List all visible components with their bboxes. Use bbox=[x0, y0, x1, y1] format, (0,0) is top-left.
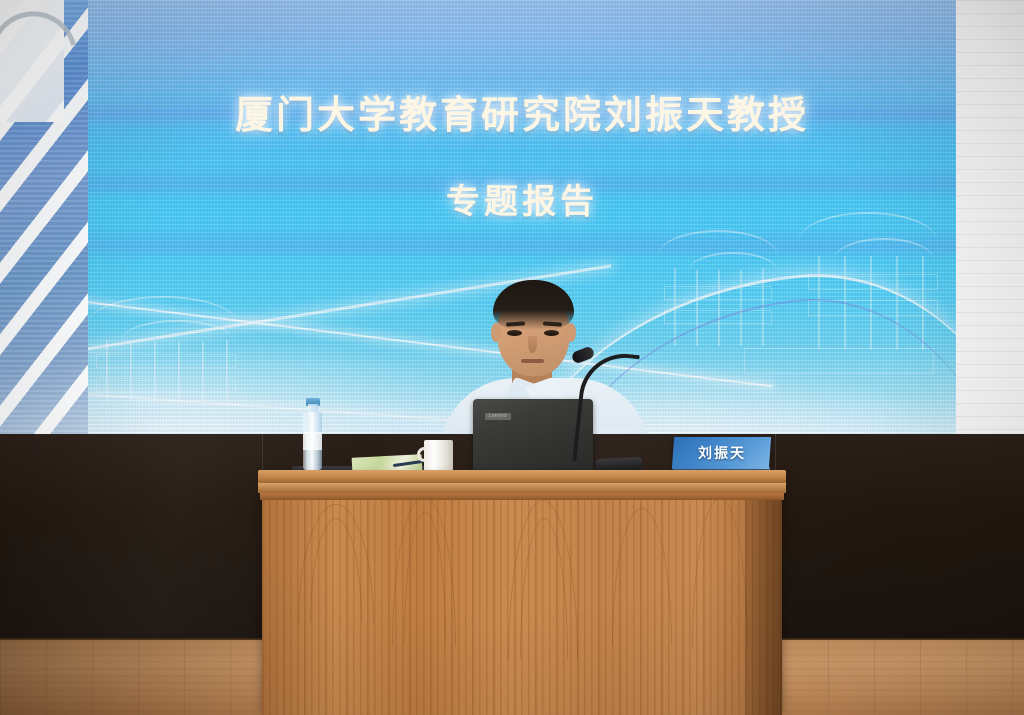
ceramic-mug bbox=[424, 440, 453, 473]
speaker-nameplate: 刘振天 bbox=[672, 437, 771, 469]
speaker-ear-left bbox=[491, 323, 501, 342]
wood-grain-arc-8 bbox=[692, 498, 748, 648]
speaker-ear-right bbox=[566, 323, 576, 342]
laptop-brand-logo: Lenovo bbox=[485, 413, 511, 420]
podium-right-face bbox=[745, 478, 782, 715]
speaker-eye-left bbox=[507, 330, 522, 336]
nameplate-text: 刘振天 bbox=[698, 443, 746, 463]
wooden-podium bbox=[262, 478, 782, 715]
wood-grain-arc-7 bbox=[612, 508, 672, 644]
speaker-hair bbox=[493, 280, 574, 330]
speaker-mouth bbox=[521, 359, 544, 363]
podium-upper-trim bbox=[258, 482, 786, 493]
podium-top-surface bbox=[258, 470, 786, 483]
speaker-nose bbox=[528, 336, 537, 353]
podium-lower-trim bbox=[260, 493, 784, 500]
photo-scene: 厦门大学教育研究院刘振天教授 专题报告 刘振天 bbox=[0, 0, 1024, 715]
water-bottle-label bbox=[303, 432, 322, 450]
speaker-eye-right bbox=[544, 330, 559, 336]
